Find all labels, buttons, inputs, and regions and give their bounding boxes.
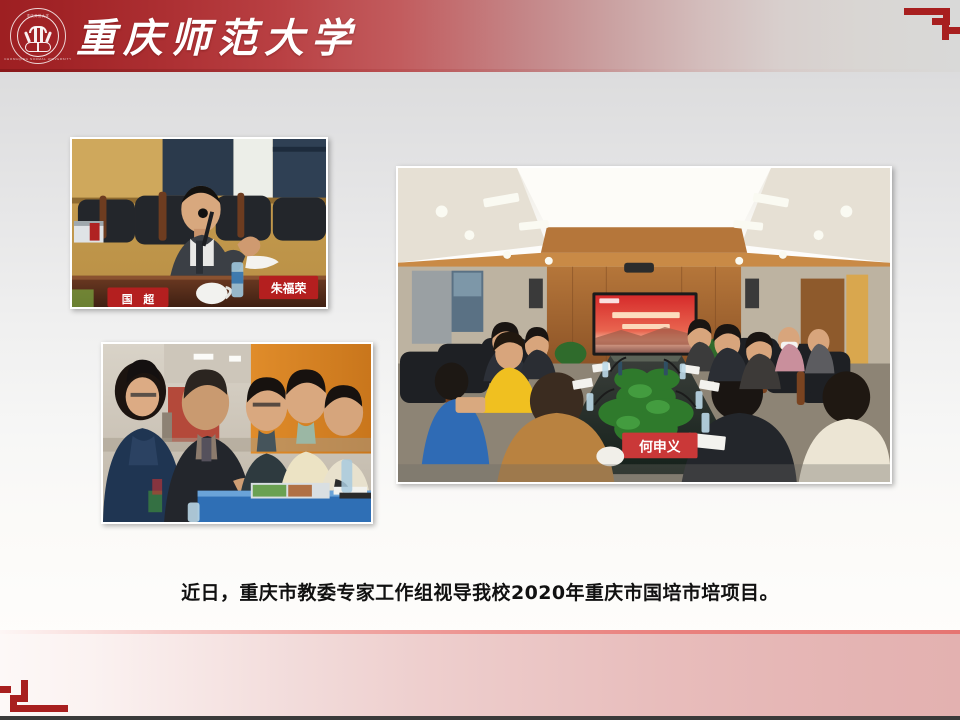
- photo-group-review: [101, 342, 373, 524]
- slide-caption: 近日，重庆市教委专家工作组视导我校2020年重庆市国培市培项目。: [0, 578, 960, 605]
- svg-text:朱福荣: 朱福荣: [271, 281, 307, 295]
- photo-conference-room: 何申义: [396, 166, 892, 484]
- slide-header-band: 重庆师范大学 CHONGQING NORMAL UNIVERSITY 重庆师范大…: [0, 0, 960, 72]
- slide-footer-band: [0, 630, 960, 720]
- svg-text:何申义: 何申义: [639, 438, 681, 455]
- photo-meeting-speaker: 朱福荣 国 超: [70, 137, 328, 309]
- photo-group-review-image: [103, 344, 371, 522]
- emblem-arc-top-text: 重庆师范大学: [27, 13, 50, 18]
- photo-meeting-speaker-image: 朱福荣 国 超: [72, 139, 326, 307]
- photo-conference-room-image: 何申义: [398, 168, 890, 482]
- university-name-title: 重庆师范大学: [76, 6, 358, 64]
- svg-text:国 超: 国 超: [122, 293, 155, 306]
- emblem-flame-glyph: [28, 25, 48, 42]
- university-emblem-icon: 重庆师范大学 CHONGQING NORMAL UNIVERSITY: [8, 6, 68, 66]
- emblem-arc-bottom-text: CHONGQING NORMAL UNIVERSITY: [4, 57, 71, 61]
- emblem-open-book-icon: [25, 42, 51, 51]
- presentation-slide: 重庆师范大学 CHONGQING NORMAL UNIVERSITY 重庆师范大…: [0, 0, 960, 720]
